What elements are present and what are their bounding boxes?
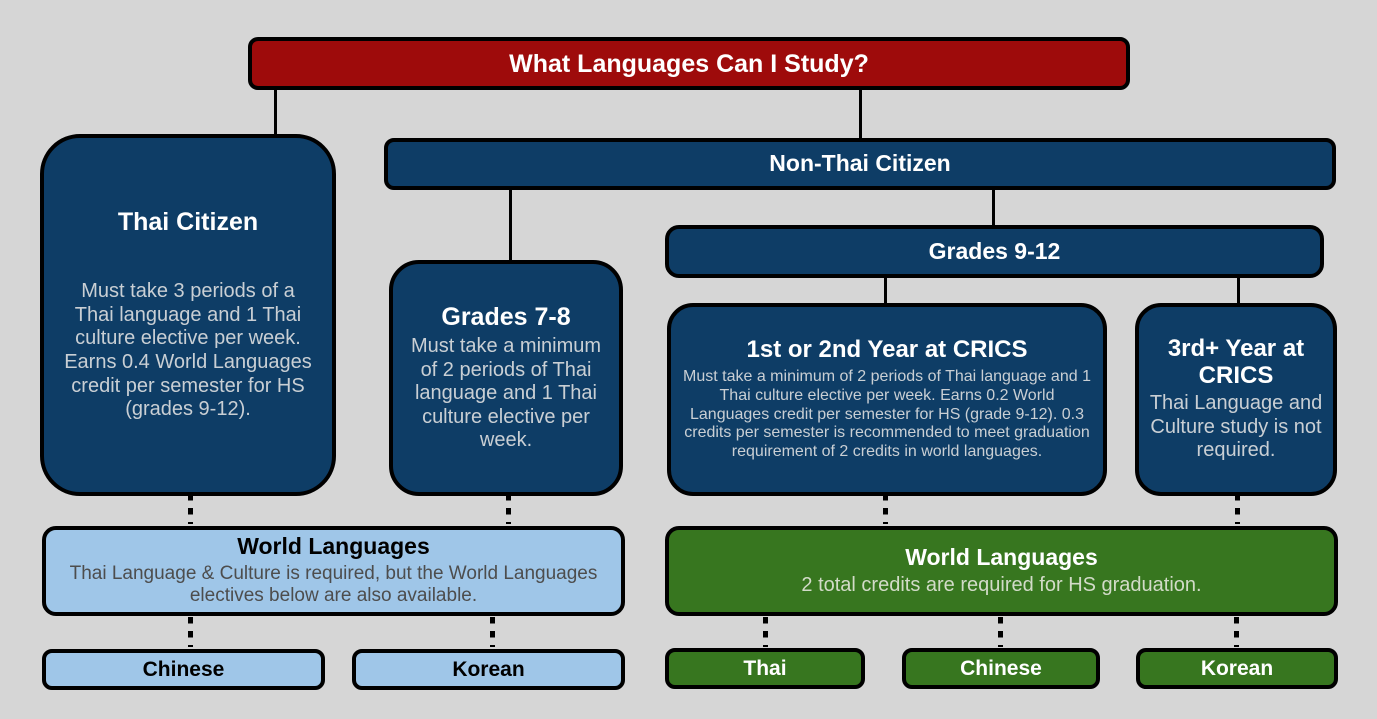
node-world-languages-green[interactable]: World Languages 2 total credits are requ… [665,526,1338,616]
node-elective-blue-korean-label: Korean [452,658,524,682]
node-elective-blue-chinese-label: Chinese [143,658,225,682]
node-first-or-second-year-at-crics-body: Must take a minimum of 2 periods of Thai… [683,368,1091,462]
node-third-plus-year-at-crics-body: Thai Language and Culture study is not r… [1149,392,1323,463]
node-world-languages-blue[interactable]: World Languages Thai Language & Culture … [42,526,625,616]
node-first-or-second-year-at-crics[interactable]: 1st or 2nd Year at CRICS Must take a min… [667,303,1107,496]
node-grades-7-8-body: Must take a minimum of 2 periods of Thai… [405,335,607,453]
node-world-languages-green-title: World Languages [905,545,1098,571]
node-thai-citizen-body: Must take 3 periods of a Thai language a… [60,280,316,422]
node-elective-green-korean[interactable]: Korean [1136,648,1338,689]
node-grades-9-12-title: Grades 9-12 [929,239,1061,265]
connector-first-second-year-to-world-languages [883,494,888,524]
connector-thai-citizen-to-world-languages [188,494,193,524]
node-elective-blue-chinese[interactable]: Chinese [42,649,325,690]
node-elective-green-thai[interactable]: Thai [665,648,865,689]
node-world-languages-green-body: 2 total credits are required for HS grad… [801,574,1201,598]
node-root-question-title: What Languages Can I Study? [509,50,869,78]
node-elective-green-thai-label: Thai [743,657,786,681]
node-grades-9-12[interactable]: Grades 9-12 [665,225,1324,278]
connector-world-languages-blue-to-korean [490,617,495,647]
connector-non-thai-to-grades-9-12 [992,188,995,226]
node-world-languages-blue-body: Thai Language & Culture is required, but… [58,563,609,608]
node-non-thai-citizen[interactable]: Non-Thai Citizen [384,138,1336,190]
connector-root-to-thai-citizen [274,86,277,138]
connector-grades-7-8-to-world-languages [506,494,511,524]
connector-grades-9-12-to-third-plus-year [1237,277,1240,305]
connector-world-languages-green-to-korean [1234,617,1239,647]
node-world-languages-blue-title: World Languages [237,534,430,560]
node-third-plus-year-at-crics[interactable]: 3rd+ Year at CRICS Thai Language and Cul… [1135,303,1337,496]
node-grades-7-8-title: Grades 7-8 [441,303,570,331]
node-first-or-second-year-at-crics-title: 1st or 2nd Year at CRICS [747,337,1028,364]
connector-world-languages-green-to-chinese [998,617,1003,647]
node-thai-citizen-title: Thai Citizen [118,208,258,236]
node-elective-blue-korean[interactable]: Korean [352,649,625,690]
node-elective-green-chinese[interactable]: Chinese [902,648,1100,689]
node-elective-green-chinese-label: Chinese [960,657,1042,681]
connector-grades-9-12-to-first-second-year [884,277,887,305]
node-thai-citizen[interactable]: Thai Citizen Must take 3 periods of a Th… [40,134,336,496]
node-elective-green-korean-label: Korean [1201,657,1273,681]
node-root-question[interactable]: What Languages Can I Study? [248,37,1130,90]
node-grades-7-8[interactable]: Grades 7-8 Must take a minimum of 2 peri… [389,260,623,496]
connector-non-thai-to-grades-7-8 [509,188,512,264]
node-third-plus-year-at-crics-title: 3rd+ Year at CRICS [1149,336,1323,390]
node-non-thai-citizen-title: Non-Thai Citizen [769,151,950,177]
flowchart-canvas: What Languages Can I Study? Thai Citizen… [0,0,1377,719]
connector-world-languages-blue-to-chinese [188,617,193,647]
connector-third-plus-year-to-world-languages [1235,494,1240,524]
connector-world-languages-green-to-thai [763,617,768,647]
connector-root-to-non-thai-citizen [859,86,862,138]
